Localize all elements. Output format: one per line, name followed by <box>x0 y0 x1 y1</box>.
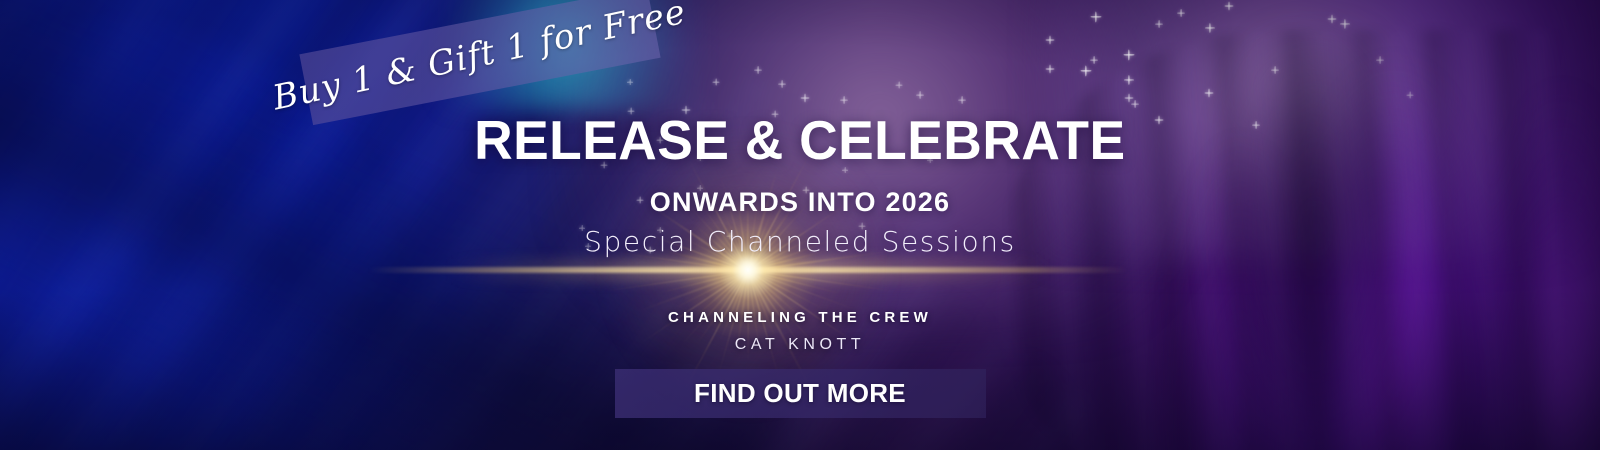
promo-banner: Buy 1 & Gift 1 for Free RELEASE & CELEBR… <box>0 0 1600 450</box>
banner-content: RELEASE & CELEBRATE ONWARDS INTO 2026 Sp… <box>0 0 1600 450</box>
tagline: Special Channeled Sessions <box>584 228 1016 256</box>
find-out-more-button[interactable]: FIND OUT MORE <box>615 369 986 418</box>
page-title: RELEASE & CELEBRATE <box>474 113 1125 168</box>
subtitle: ONWARDS INTO 2026 <box>650 189 950 216</box>
presenter-name: CAT KNOTT <box>735 337 866 353</box>
brand-name: CHANNELING THE CREW <box>668 310 932 325</box>
